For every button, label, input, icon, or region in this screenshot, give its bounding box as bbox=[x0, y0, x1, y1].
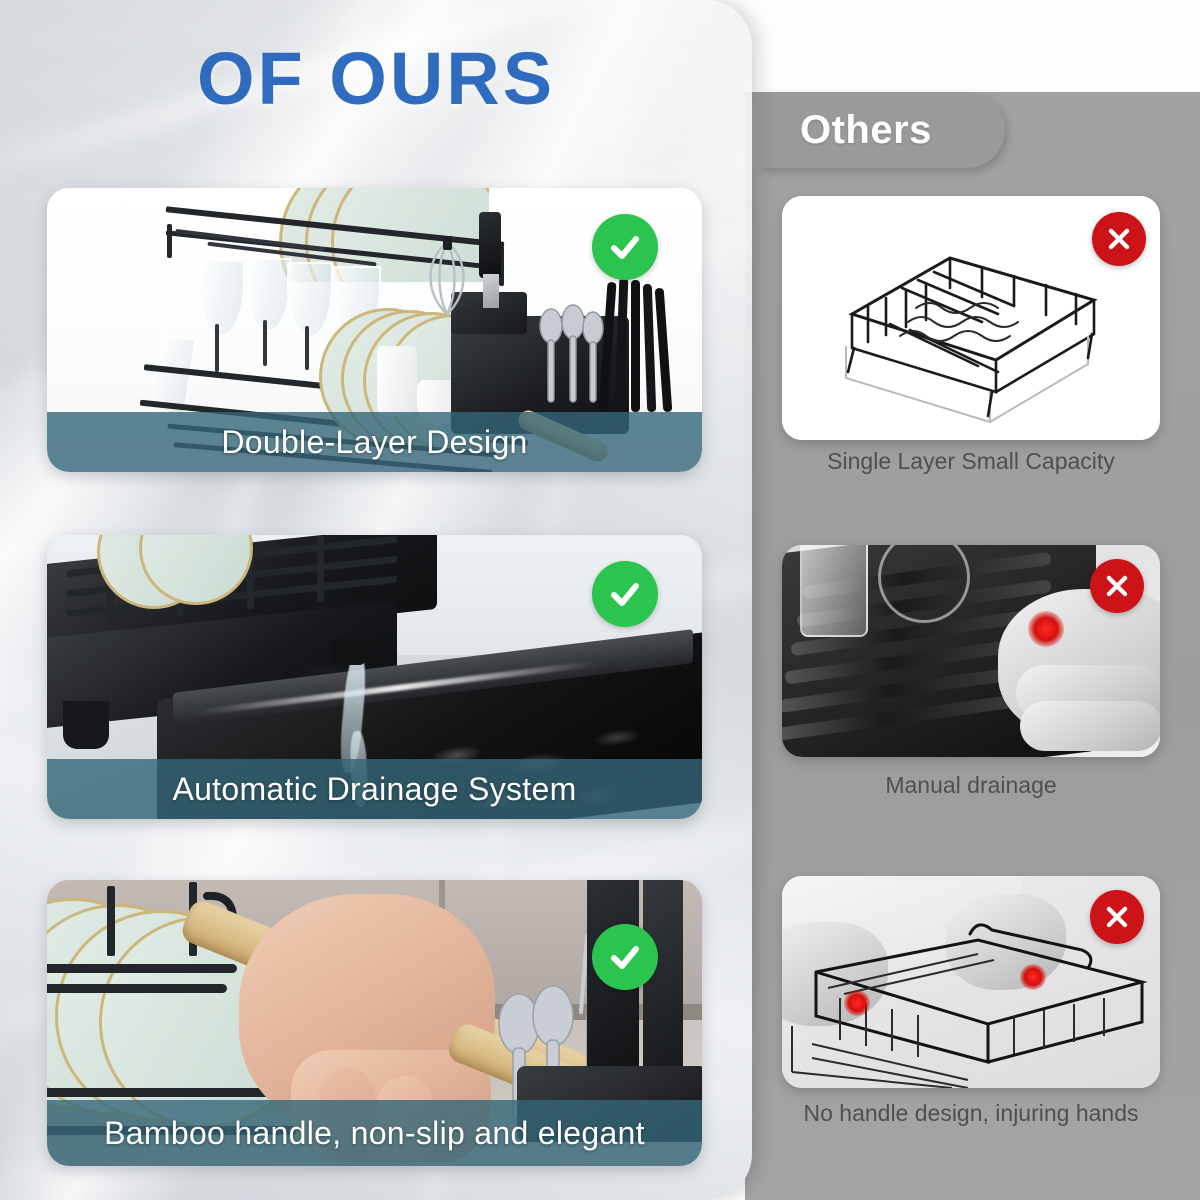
check-badge bbox=[592, 924, 658, 990]
page-title: OF OURS bbox=[0, 36, 752, 121]
check-badge bbox=[592, 561, 658, 627]
cross-badge bbox=[1092, 212, 1146, 266]
whisk-icon bbox=[417, 236, 477, 320]
others-tab: Others bbox=[760, 92, 1005, 168]
ours-card-2: Automatic Drainage System bbox=[47, 535, 702, 819]
others-caption-1: Single Layer Small Capacity bbox=[782, 448, 1160, 475]
others-tab-label: Others bbox=[800, 108, 932, 153]
ours-caption-2: Automatic Drainage System bbox=[172, 771, 576, 808]
others-caption-2: Manual drainage bbox=[782, 772, 1160, 799]
cross-badge bbox=[1090, 890, 1144, 944]
ours-caption-3: Bamboo handle, non-slip and elegant bbox=[104, 1115, 645, 1152]
others-caption-3: No handle design, injuring hands bbox=[782, 1100, 1160, 1127]
cutlery-icon bbox=[533, 304, 609, 412]
check-badge bbox=[592, 214, 658, 280]
ours-caption-bar-2: Automatic Drainage System bbox=[47, 759, 702, 819]
ours-caption-bar-3: Bamboo handle, non-slip and elegant bbox=[47, 1100, 702, 1166]
others-card-1 bbox=[782, 196, 1160, 440]
ours-caption-1: Double-Layer Design bbox=[221, 424, 527, 461]
comparison-infographic: Others bbox=[0, 0, 1200, 1200]
others-card-3 bbox=[782, 876, 1160, 1088]
ours-card-1: Double-Layer Design bbox=[47, 188, 702, 472]
ours-caption-bar-1: Double-Layer Design bbox=[47, 412, 702, 472]
others-card-2 bbox=[782, 545, 1160, 757]
ours-card-3: Bamboo handle, non-slip and elegant bbox=[47, 880, 702, 1166]
glass-cup bbox=[800, 545, 868, 637]
cross-badge bbox=[1090, 559, 1144, 613]
